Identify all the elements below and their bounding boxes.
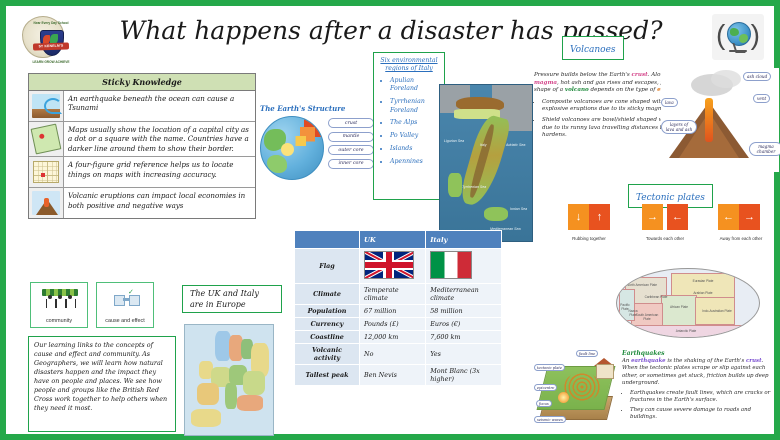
plate-label-antarctic: Antarctic Plate <box>663 329 709 333</box>
six-regions-box: Six environmental regions of Italy Apuli… <box>373 52 445 200</box>
uk-flag-icon <box>364 251 414 279</box>
earthquake-label-tectonic-plate: tectonic plate <box>534 364 565 371</box>
list-item: Islands <box>390 145 441 153</box>
plate-caption-towards: Towards each other <box>634 236 696 242</box>
list-item: Po Valley <box>390 132 441 140</box>
list-item: Apulian Foreland <box>390 77 441 94</box>
map-icon <box>29 122 64 156</box>
learning-links-box: Our learning links to the concepts of ca… <box>28 336 176 432</box>
globe-base-icon <box>729 50 747 52</box>
list-item: The Alps <box>390 119 441 127</box>
map-label-ionian-sea: Ionian Sea <box>510 207 527 211</box>
sticky-knowledge-text: Maps usually show the location of a capi… <box>64 122 255 156</box>
map-label-italy: Italy <box>480 143 487 147</box>
earth-label-outer-core: outer core <box>328 145 374 155</box>
cell-italy-climate: Mediterranean climate <box>426 284 502 305</box>
europe-political-map <box>184 324 274 436</box>
earthquakes-t1: An <box>622 358 631 364</box>
arrow-down-icon: ↓ <box>576 212 582 223</box>
column-header-blank <box>295 231 360 249</box>
earthquakes-title: Earthquakes <box>622 350 774 357</box>
map-label-tyrrhenian-sea: Tyrrhenian Sea <box>462 185 486 189</box>
table-row: Population 67 million 58 million <box>295 305 502 318</box>
volcanoes-p1: Pressure builds below the Earth's <box>534 72 632 78</box>
cell-italy-peak: Mont Blanc (3x higher) <box>426 365 502 386</box>
volcanoes-p5: depends on the type of <box>589 87 657 93</box>
crest-top-text: Near Every Day School <box>27 21 75 25</box>
poster-canvas: Near Every Day School ST KENELM'S LEARN … <box>0 0 780 440</box>
volcano-label-layers: layers of lava and ash <box>661 120 697 134</box>
cell-uk-volcanic: No <box>360 344 426 365</box>
earthquake-label-fault-line: fault line <box>576 350 598 357</box>
cell-uk-peak: Ben Nevis <box>360 365 426 386</box>
earthquakes-t2: is the shaking of the Earth's <box>666 358 746 364</box>
table-row: Currency Pounds (£) Euros (€) <box>295 318 502 331</box>
row-label-flag: Flag <box>295 249 360 284</box>
concept-label-community: community <box>31 318 87 324</box>
column-header-uk: UK <box>360 231 426 249</box>
sticky-knowledge-table: Sticky Knowledge An earthquake beneath t… <box>28 73 256 219</box>
row-label-volcanic-activity: Volcanic activity <box>295 344 360 365</box>
tsunami-icon <box>29 91 64 121</box>
europe-chip: The UK and Italy are in Europe <box>182 285 282 313</box>
volcano-label-magma-chamber: magma chamber <box>749 142 780 156</box>
table-row: Tallest peak Ben Nevis Mont Blanc (3x hi… <box>295 365 502 386</box>
list-item: Tyrrhenian Foreland <box>390 98 441 115</box>
map-label-ligurian-sea: Ligurian Sea <box>444 139 464 143</box>
earth-label-inner-core: inner core <box>328 159 374 169</box>
volcanoes-chip: Volcanoes <box>562 36 624 60</box>
keyword-earthquake: earthquake <box>631 358 666 364</box>
crest-shape: Near Every Day School ST KENELM'S LEARN … <box>22 16 64 58</box>
earthquake-diagram: tectonic plate epicentre focus seismic w… <box>534 348 618 434</box>
tectonic-plates-diagrams: ↓ ↑ Rubbing together → ← Towards each ot… <box>562 204 777 256</box>
arrow-left-icon: ← <box>672 212 683 223</box>
table-row: A four-figure grid reference helps us to… <box>29 157 255 188</box>
plate-label-caribbean: Caribbean Plate <box>643 295 669 299</box>
table-row: Flag <box>295 249 502 284</box>
earth-label-crust: crust <box>328 118 374 128</box>
sticky-knowledge-text: An earthquake beneath the ocean can caus… <box>64 91 255 121</box>
earth-structure-title: The Earth's Structure <box>260 104 374 113</box>
cell-uk-currency: Pounds (£) <box>360 318 426 331</box>
list-item: Apennines <box>390 158 441 166</box>
plate-label-african: African Plate <box>665 305 693 309</box>
plate-label-nazca: Nazca Plate <box>625 309 641 317</box>
italy-flag-icon <box>430 251 472 279</box>
table-row: An earthquake beneath the ocean can caus… <box>29 91 255 122</box>
table-row: Maps usually show the location of a capi… <box>29 122 255 157</box>
keyword-crust: crust <box>746 358 762 364</box>
plate-diagram-away: ← → <box>718 204 760 230</box>
list-item: They can cause severe damage to roads an… <box>630 407 774 421</box>
row-label-coastline: Coastline <box>295 331 360 344</box>
six-regions-title: Six environmental regions of Italy <box>377 57 441 73</box>
table-row: Coastline 12,000 km 7,600 km <box>295 331 502 344</box>
uk-italy-comparison-table: UK Italy Flag Climate Temperate cli <box>294 230 502 386</box>
plate-label-eurasian: Eurasian Plate <box>683 279 723 283</box>
list-item: Earthquakes create fault lines, which ar… <box>630 390 774 404</box>
cell-uk-population: 67 million <box>360 305 426 318</box>
concept-community: community <box>30 282 88 328</box>
plate-caption-away: Away from each other <box>710 236 772 242</box>
concept-label-cause-and-effect: cause and effect <box>97 318 153 324</box>
earthquake-label-seismic-waves: seismic waves <box>534 416 566 423</box>
plate-label-arabian: Arabian Plate <box>693 291 713 295</box>
sticky-knowledge-heading: Sticky Knowledge <box>29 74 255 91</box>
plate-label-north-american: North American Plate <box>625 283 659 287</box>
italy-flag-cell <box>426 249 502 284</box>
cell-italy-currency: Euros (€) <box>426 318 502 331</box>
volcanoes-chip-label: Volcanoes <box>570 45 616 55</box>
row-label-tallest-peak: Tallest peak <box>295 365 360 386</box>
earth-cutaway-icon <box>260 116 324 180</box>
table-header-row: UK Italy <box>295 231 502 249</box>
cell-italy-coastline: 7,600 km <box>426 331 502 344</box>
earth-structure-labels: crust mantle outer core inner core <box>328 118 374 172</box>
plate-label-indo-australian: Indo-Australian Plate <box>701 309 733 313</box>
plate-diagram-rubbing: ↓ ↑ <box>568 204 610 230</box>
row-label-climate: Climate <box>295 284 360 305</box>
cell-italy-volcanic: Yes <box>426 344 502 365</box>
arrow-right-icon: → <box>744 212 755 223</box>
sticky-knowledge-text: A four-figure grid reference helps us to… <box>64 157 255 187</box>
table-row: Volcanic activity No Yes <box>295 344 502 365</box>
earthquakes-text-block: Earthquakes An earthquake is the shaking… <box>622 350 774 424</box>
cell-uk-coastline: 12,000 km <box>360 331 426 344</box>
volcano-label-vent: vent <box>753 94 770 103</box>
grid-reference-icon <box>29 157 64 187</box>
uk-flag-cell <box>360 249 426 284</box>
plate-caption-rubbing: Rubbing together <box>562 236 616 242</box>
school-crest: Near Every Day School ST KENELM'S LEARN … <box>14 10 70 62</box>
europe-chip-label: The UK and Italy are in Europe <box>190 288 274 310</box>
bracket-left-icon: ( <box>716 20 725 50</box>
italy-physical-map: Italy Ligurian Sea Tyrrhenian Sea Adriat… <box>439 84 533 242</box>
tectonic-plates-chip-label: Tectonic plates <box>636 193 705 203</box>
arrow-up-icon: ↑ <box>597 212 603 223</box>
keyword-crust: crust <box>632 72 648 78</box>
volcano-icon <box>29 188 64 218</box>
crest-motto: LEARN GROW ACHIEVE <box>27 60 75 64</box>
bracket-right-icon: ) <box>751 20 760 50</box>
earthquakes-bullet-list: Earthquakes create fault lines, which ar… <box>622 390 774 421</box>
six-regions-list: Apulian Foreland Tyrrhenian Foreland The… <box>377 77 441 166</box>
community-icon <box>42 289 78 309</box>
row-label-population: Population <box>295 305 360 318</box>
row-label-currency: Currency <box>295 318 360 331</box>
keyword-volcano-2: volcano <box>565 87 589 93</box>
column-header-italy: Italy <box>426 231 502 249</box>
earth-structure-diagram: The Earth's Structure crust mantle outer… <box>258 104 374 190</box>
volcano-label-ash-cloud: ash cloud <box>743 72 771 81</box>
map-label-adriatic-sea: Adriatic Sea <box>506 143 525 147</box>
arrow-left-icon: ← <box>723 212 734 223</box>
tectonic-plates-world-map: North American Plate Eurasian Plate Afri… <box>614 264 762 342</box>
table-row: Volcanic eruptions can impact local econ… <box>29 188 255 218</box>
crest-school-name: ST KENELM'S <box>33 42 69 50</box>
table-row: Climate Temperate climate Mediterranean … <box>295 284 502 305</box>
plate-diagram-towards: → ← <box>642 204 688 230</box>
concept-cause-and-effect: ✓ cause and effect <box>96 282 154 328</box>
cell-uk-climate: Temperate climate <box>360 284 426 305</box>
earthquake-label-focus: focus <box>536 400 552 407</box>
keyword-magma: magma <box>534 80 557 86</box>
cell-italy-population: 58 million <box>426 305 502 318</box>
volcano-label-lava: lava <box>661 98 678 107</box>
earth-label-mantle: mantle <box>328 132 374 142</box>
volcano-cross-section-diagram: ash cloud vent lava layers of lava and a… <box>661 68 779 172</box>
geography-globe-logo: ( ) <box>712 14 764 60</box>
sticky-knowledge-text: Volcanic eruptions can impact local econ… <box>64 188 255 218</box>
arrow-right-icon: → <box>647 212 658 223</box>
earthquake-label-epicentre: epicentre <box>534 384 557 391</box>
